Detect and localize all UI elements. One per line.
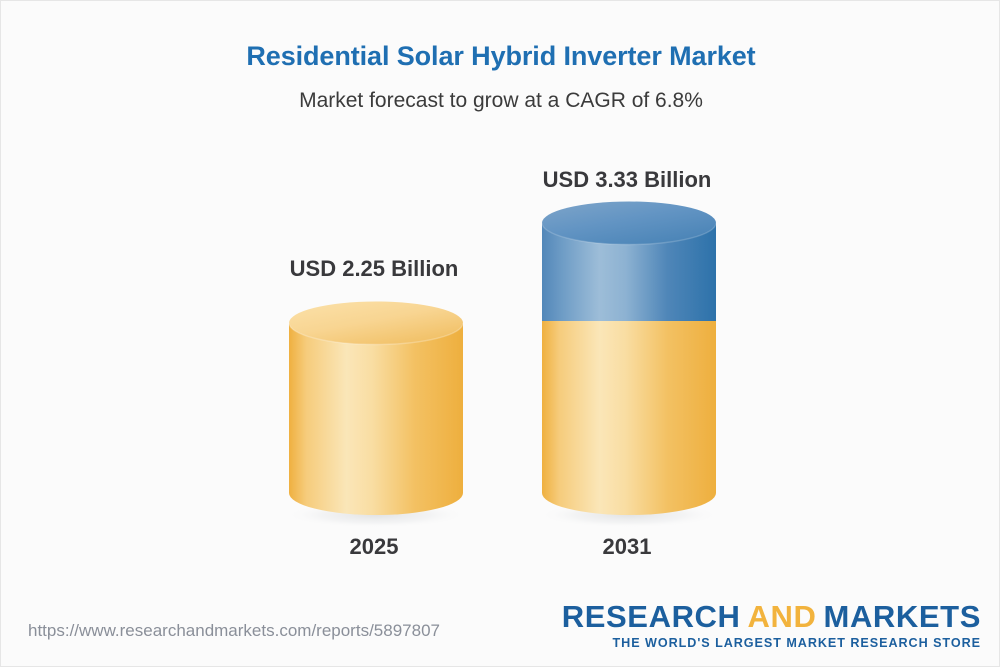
bar-2025 — [281, 296, 467, 528]
bar-2025-cylinder — [281, 296, 467, 528]
bar-2025-body — [289, 323, 463, 515]
category-label-2031: 2031 — [534, 534, 720, 560]
category-label-2025: 2025 — [281, 534, 467, 560]
chart-canvas: Residential Solar Hybrid Inverter Market… — [0, 0, 1000, 667]
logo-wordmark: RESEARCHANDMARKETS — [562, 601, 981, 632]
report-url[interactable]: https://www.researchandmarkets.com/repor… — [28, 621, 440, 641]
logo-tagline: THE WORLD'S LARGEST MARKET RESEARCH STOR… — [562, 637, 981, 650]
logo-word-and: AND — [748, 599, 817, 634]
research-and-markets-logo[interactable]: RESEARCHANDMARKETS THE WORLD'S LARGEST M… — [562, 601, 981, 650]
bar-2031-value-label: USD 3.33 Billion — [534, 167, 720, 193]
logo-word-markets: MARKETS — [824, 599, 981, 634]
bar-2025-value-label: USD 2.25 Billion — [281, 256, 467, 282]
plot-area: USD 2.25 Billion USD 3.33 Billion 2025 2… — [1, 1, 1000, 601]
logo-word-research: RESEARCH — [562, 599, 741, 634]
bar-2031 — [534, 197, 720, 527]
bar-2031-cylinder — [534, 197, 720, 527]
bar-2031-body — [542, 223, 716, 515]
